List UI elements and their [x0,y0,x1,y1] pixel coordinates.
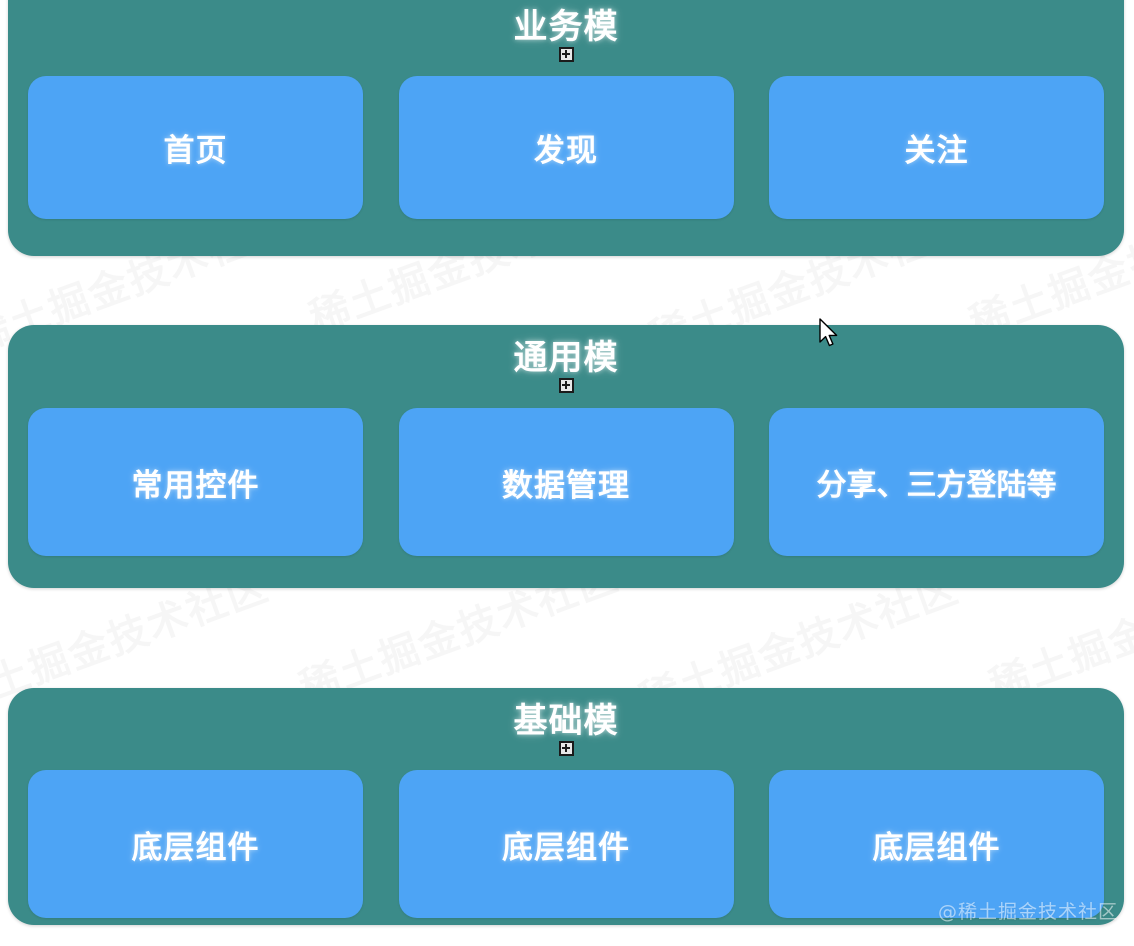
architecture-diagram: 业务模 首页 发现 关注 通用模 常用控件 数据管理 [0,0,1134,946]
module-card-label: 数据管理 [502,460,630,505]
move-cursor-glyph-icon [559,741,574,756]
layer-panel-common[interactable]: 通用模 常用控件 数据管理 分享、三方登陆等 [8,325,1124,588]
module-card-label: 常用控件 [132,460,260,505]
module-card[interactable]: 底层组件 [399,770,734,918]
card-row: 常用控件 数据管理 分享、三方登陆等 [8,408,1124,556]
module-card[interactable]: 底层组件 [769,770,1104,918]
layer-panel-foundation[interactable]: 基础模 底层组件 底层组件 底层组件 [8,688,1124,925]
module-card-label: 底层组件 [873,822,1001,867]
module-card-label: 底层组件 [502,822,630,867]
module-card[interactable]: 数据管理 [399,408,734,556]
module-card[interactable]: 底层组件 [28,770,363,918]
panel-title: 基础模 [514,704,619,740]
module-card[interactable]: 常用控件 [28,408,363,556]
module-card[interactable]: 关注 [769,76,1104,219]
module-card-label: 分享、三方登陆等 [817,460,1057,504]
module-card-label: 关注 [905,125,969,170]
panel-title-wrap: 业务模 [8,10,1124,62]
layer-panel-business[interactable]: 业务模 首页 发现 关注 [8,0,1124,256]
module-card[interactable]: 发现 [399,76,734,219]
move-cursor-glyph-icon [559,47,574,62]
module-card[interactable]: 分享、三方登陆等 [769,408,1104,556]
card-row: 底层组件 底层组件 底层组件 [8,770,1124,918]
module-card-label: 发现 [534,125,598,170]
module-card-label: 首页 [164,125,228,170]
module-card[interactable]: 首页 [28,76,363,219]
panel-title: 通用模 [514,341,619,377]
card-row: 首页 发现 关注 [8,76,1124,219]
panel-title-wrap: 基础模 [8,704,1124,756]
move-cursor-glyph-icon [559,378,574,393]
module-card-label: 底层组件 [132,822,260,867]
corner-watermark: @稀土掘金技术社区 [938,897,1118,924]
panel-title: 业务模 [514,10,619,46]
panel-title-wrap: 通用模 [8,341,1124,393]
